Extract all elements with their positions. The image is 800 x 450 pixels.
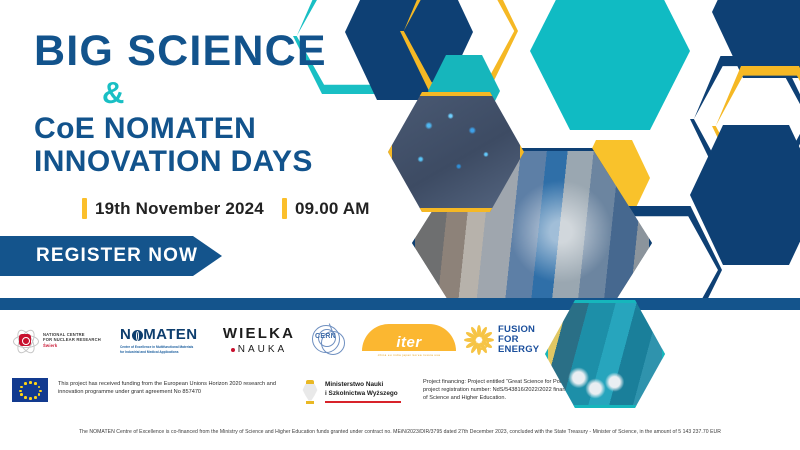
red-dot-icon [231, 348, 235, 352]
wielka-line-1: WIELKA [223, 325, 295, 342]
eu-flag-icon [12, 378, 48, 402]
globe-icon [132, 330, 143, 341]
nomaten-tagline-1: Centre of Excellence in Multifunctional … [120, 345, 193, 349]
event-meta: 19th November 2024 09.00 AM [82, 198, 370, 219]
iter-dome-icon: iter [362, 324, 456, 351]
ncbj-line-3: Świerk [43, 343, 101, 348]
cern-label: CERN [315, 333, 336, 340]
ministry-line-1: Ministerstwo Nauki [325, 381, 401, 390]
sunburst-icon [464, 325, 494, 355]
logo-iter: iter china eu india japan korea russia u… [354, 317, 464, 363]
headline-ampersand: & [102, 76, 394, 110]
nomaten-title-right: MATEN [143, 326, 197, 343]
nomaten-title-left: N [120, 326, 131, 343]
logo-nomaten: N MATEN Centre of Excellence in Multifun… [120, 317, 216, 363]
logo-cern: CERN [302, 317, 354, 363]
poster-root: BIG SCIENCE & CoE NOMATEN INNOVATION DAY… [0, 0, 800, 450]
accent-bar-icon [282, 198, 287, 219]
logo-wielka-nauka: WIELKA NAUKA [216, 317, 302, 363]
event-date-group: 19th November 2024 [82, 198, 264, 219]
eu-funding-text: This project has received funding from t… [58, 380, 290, 397]
headline-line-1: BIG SCIENCE [34, 28, 394, 74]
register-now-button[interactable]: REGISTER NOW [0, 236, 222, 276]
wielka-line-2: NAUKA [238, 344, 287, 355]
ministry-line-2: i Szkolnictwa Wyższego [325, 390, 401, 399]
ministry-logo: Ministerstwo Nauki i Szkolnictwa Wyższeg… [300, 380, 401, 404]
event-time: 09.00 AM [295, 199, 370, 219]
register-now-label: REGISTER NOW [36, 245, 198, 267]
ncbj-line-2: FOR NUCLEAR RESEARCH [43, 337, 101, 342]
funding-row: This project has received funding from t… [0, 374, 800, 422]
cern-accelerator-icon: CERN [309, 323, 347, 357]
bottom-disclaimer: The NOMATEN Centre of Excellence is co-f… [0, 428, 800, 436]
hex-solid-teal-1 [530, 0, 690, 130]
ministry-red-rule [325, 401, 401, 403]
atom-icon [12, 327, 38, 353]
iter-subline: china eu india japan korea russia usa [378, 353, 441, 357]
headline-block: BIG SCIENCE & CoE NOMATEN INNOVATION DAY… [34, 28, 394, 178]
event-date: 19th November 2024 [95, 199, 264, 219]
accent-bar-icon [82, 198, 87, 219]
blue-divider-bar [0, 298, 800, 310]
iter-word: iter [396, 335, 421, 350]
headline-line-3: INNOVATION DAYS [34, 145, 394, 178]
f4e-line-3: ENERGY [498, 345, 539, 355]
partner-logo-strip: NATIONAL CENTRE FOR NUCLEAR RESEARCH Świ… [0, 310, 800, 370]
logo-national-centre-nuclear-research: NATIONAL CENTRE FOR NUCLEAR RESEARCH Świ… [12, 317, 120, 363]
nomaten-tagline-2: for Industrial and Medical Applications [120, 350, 193, 354]
polish-eagle-icon [300, 380, 320, 404]
event-time-group: 09.00 AM [282, 198, 370, 219]
headline-line-2: CoE NOMATEN [34, 112, 394, 145]
